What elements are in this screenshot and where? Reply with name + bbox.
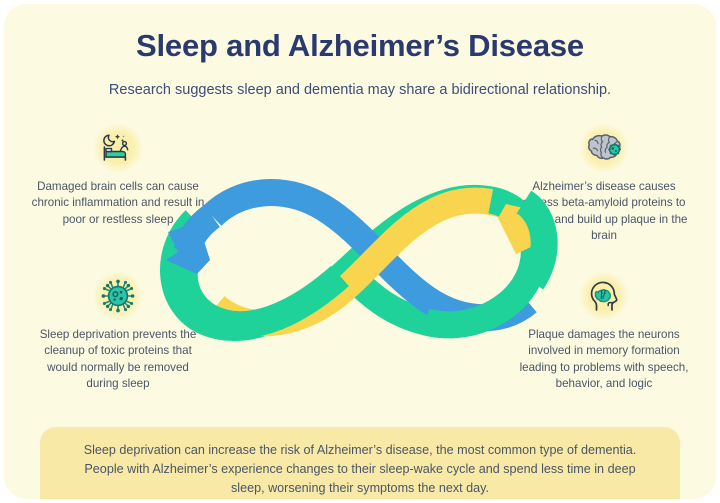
infographic-card: Sleep and Alzheimer’s Disease Research s… <box>4 4 716 499</box>
page-title: Sleep and Alzheimer’s Disease <box>4 28 716 64</box>
footer-callout: Sleep deprivation can increase the risk … <box>40 427 680 499</box>
brain-plaque-icon <box>578 124 630 172</box>
virus-protein-icon <box>92 272 144 320</box>
sleeping-person-moon-icon <box>92 124 144 172</box>
bidirectional-infinity-loop <box>154 156 574 371</box>
page-subtitle: Research suggests sleep and dementia may… <box>4 82 716 98</box>
head-brain-profile-icon <box>578 272 630 320</box>
footer-text: Sleep deprivation can increase the risk … <box>78 441 642 498</box>
